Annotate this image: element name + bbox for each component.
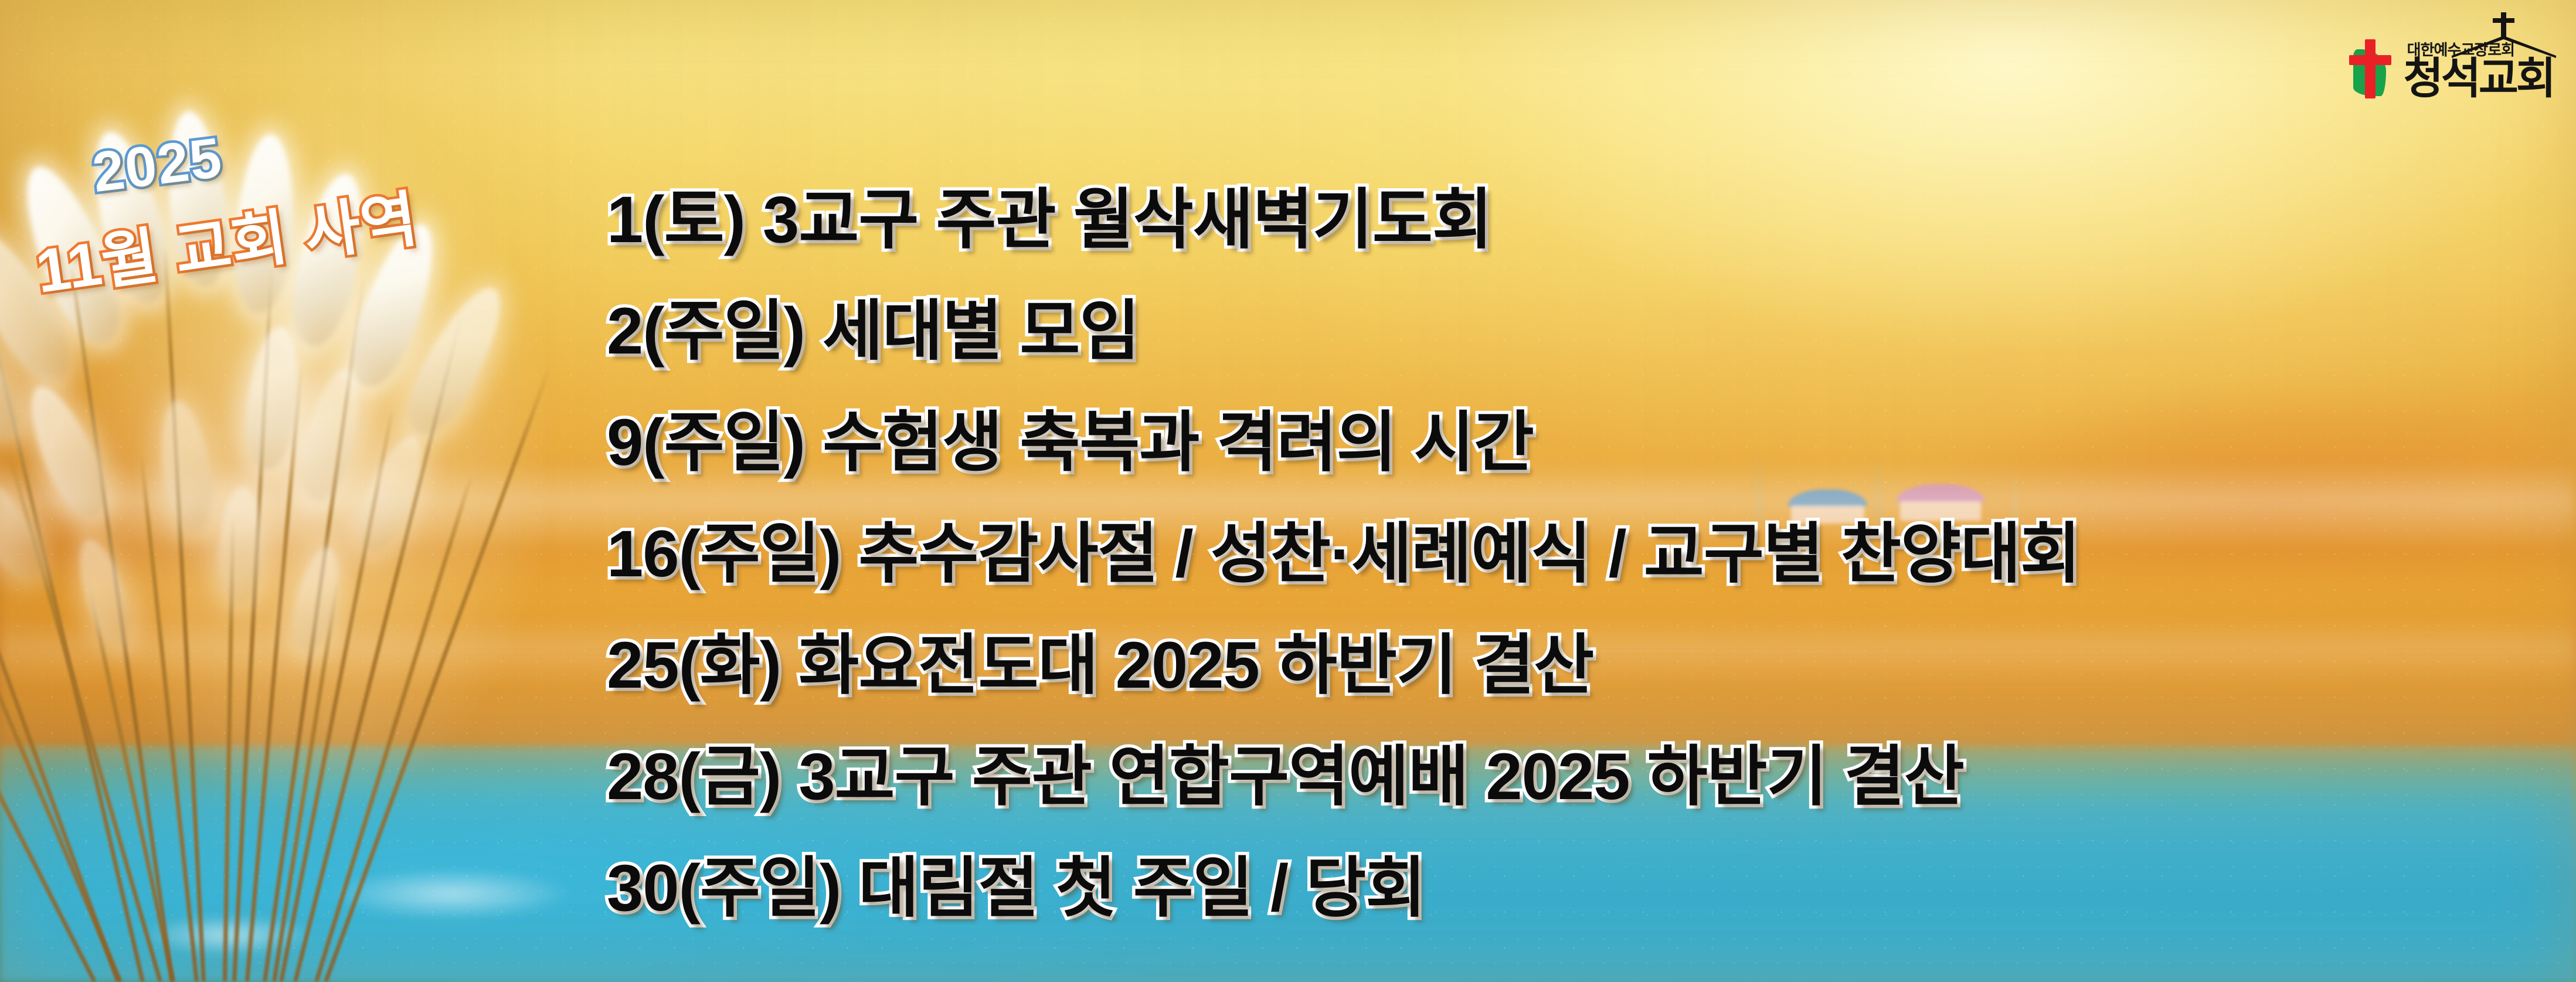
reed-plume [0,292,35,450]
cross-horizontal [2349,55,2391,65]
church-monthly-ministry-poster: 2025 11월 교회 사역 1(토) 3교구 주관 월삭새벽기도회2(주일) … [0,0,2576,982]
schedule-row: 25(화) 화요전도대 2025 하반기 결산 [607,610,2512,721]
reed-plume [291,363,371,507]
schedule-row: 28(금) 3교구 주관 연합구역예배 2025 하반기 결산 [607,721,2512,833]
schedule-entry-text: 28(금) 3교구 주관 연합구역예배 2025 하반기 결산 [607,742,1964,811]
reed-plume [348,429,435,559]
schedule-row: 1(토) 3교구 주관 월삭새벽기도회 [607,164,2512,276]
schedule-entry-text: 9(주일) 수험생 축복과 격려의 시간 [607,408,1534,477]
schedule-row: 9(주일) 수험생 축복과 격려의 시간 [607,387,2512,498]
water-glint [141,915,317,956]
church-roof-with-cross [2452,12,2557,58]
schedule-entry-text: 30(주일) 대림절 첫 주일 / 당회 [607,854,1425,923]
church-logo-wordmark: 대한예수교장로회 청석교회 [2404,38,2554,98]
reed-plume [240,324,305,472]
schedule-entry-text: 1(토) 3교구 주관 월삭새벽기도회 [607,185,1492,254]
reed-plume [153,397,219,535]
schedule-row: 30(주일) 대림절 첫 주일 / 당회 [607,833,2512,944]
church-name-label: 청석교회 [2404,59,2554,98]
poster-month-title: 11월 교회 사역 [30,169,423,310]
water-glint [328,868,575,920]
reed-plume [15,377,118,526]
reed-plume [393,276,518,446]
schedule-row: 16(주일) 추수감사절 / 성찬·세례예식 / 교구별 찬양대회 [607,498,2512,610]
schedule-entry-text: 25(화) 화요전도대 2025 하반기 결산 [607,631,1593,700]
poster-year-title: 2025 [89,125,226,205]
ministry-schedule-list: 1(토) 3교구 주관 월삭새벽기도회2(주일) 세대별 모임9(주일) 수험생… [607,164,2512,944]
cross-over-leaf-emblem [2345,38,2395,98]
church-logo: 대한예수교장로회 청석교회 [2345,11,2554,98]
schedule-entry-text: 2(주일) 세대별 모임 [607,297,1139,366]
schedule-entry-text: 16(주일) 추수감사절 / 성찬·세례예식 / 교구별 찬양대회 [607,519,2080,589]
cross-vertical [2365,39,2376,98]
poster-title-block: 2025 11월 교회 사역 [0,120,487,284]
schedule-row: 2(주일) 세대별 모임 [607,276,2512,387]
